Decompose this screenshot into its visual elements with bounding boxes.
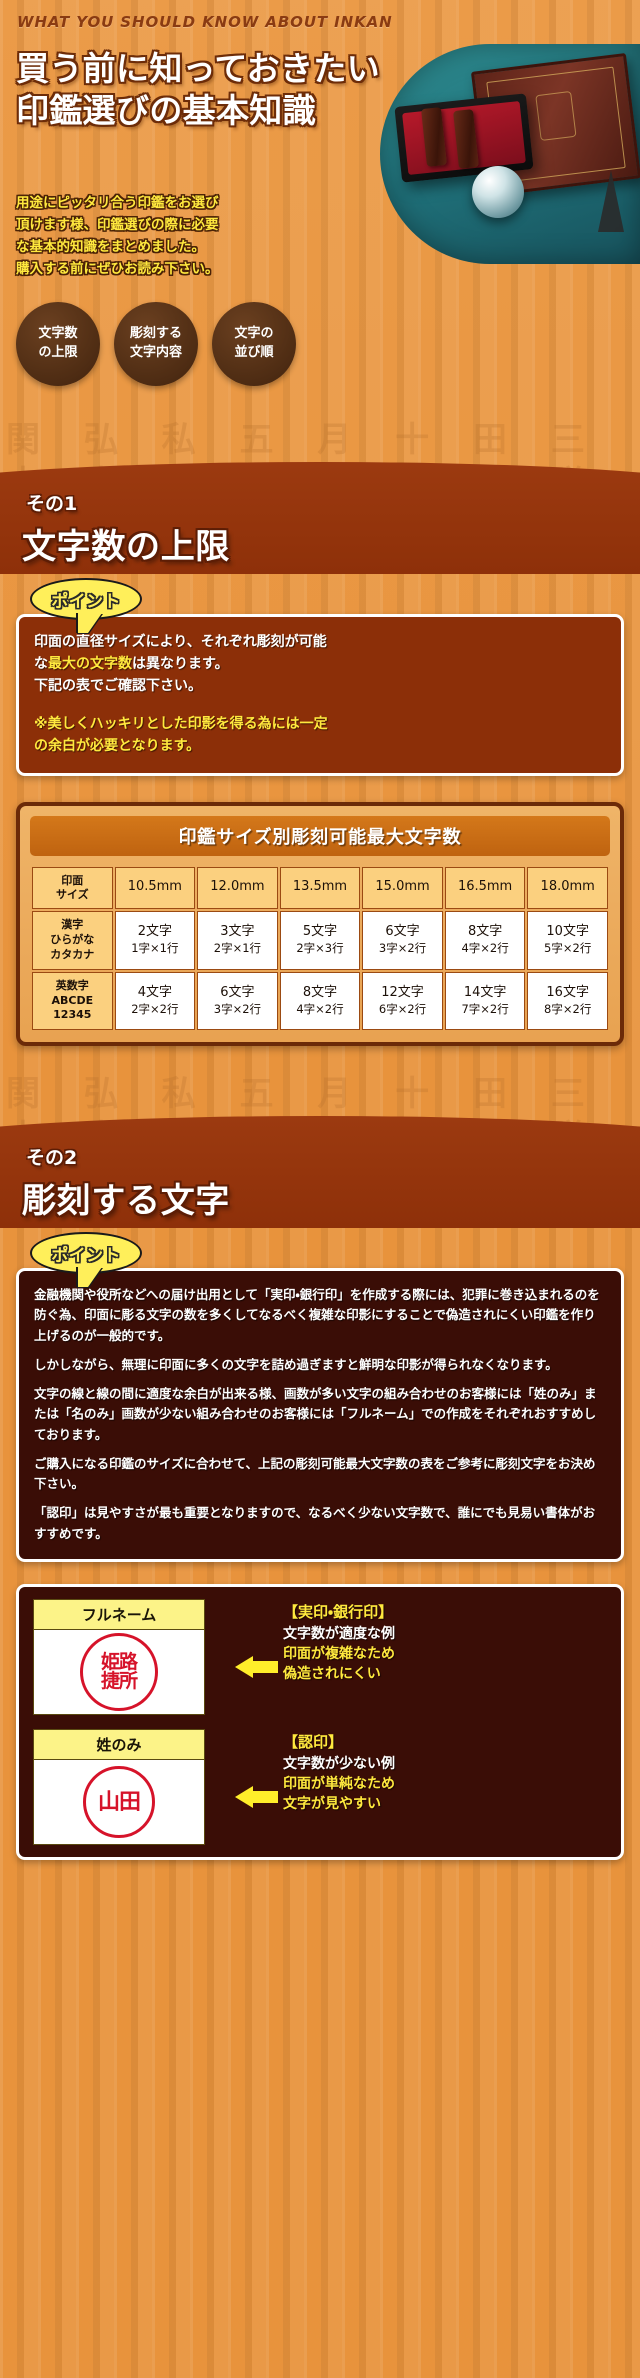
compare-line-1-2: 文字が見やすい [283,1795,607,1815]
section2-paragraph-3: ご購入になる印鑑のサイズに合わせて、上記の彫刻可能最大文字数の表をご参考に彫刻文… [34,1454,606,1495]
size-cell-r0c3: 6文字 3字×2行 [362,911,443,970]
size-cell-r1c0-big: 4文字 [117,985,194,1002]
size-table-corner-line2: サイズ [34,888,111,902]
point-bubble-1-label: ポイント [51,587,120,612]
size-cell-r1c1-sub: 3字×2行 [199,1002,276,1017]
photo-glass-ball [472,166,524,218]
seal-comparison-panel: フルネーム 姫路 捷所 【実印・銀行印】 文字数が適度な例 印面が複雑なため 偽… [16,1584,624,1860]
size-cell-r0c0-big: 2文字 [117,924,194,941]
hero-banner: WHAT YOU SHOULD KNOW ABOUT INKAN 買う前に知って… [0,0,640,414]
spacer-2 [0,1860,640,1882]
tab-character-order-line2: 並び順 [234,344,273,363]
compare-line-1-1: 印面が単純なため [283,1775,607,1795]
size-row0-label-line3: カタカナ [34,948,111,963]
arrow-left-icon-wrap [215,1625,273,1709]
compare-heading-mitomein: 【認印】 [283,1731,607,1752]
compare-text-surname: 【認印】 文字数が少ない例 印面が単純なため 文字が見やすい [283,1729,607,1815]
compare-lines-mitomein: 文字数が少ない例 印面が単純なため 文字が見やすい [283,1755,607,1815]
tab-character-limit-line1: 文字数 [38,325,77,344]
section1-note: ※美しくハッキリとした印影を得る為には一定 の余白が必要となります。 [34,713,606,757]
point-bubble-2: ポイント [30,1232,142,1274]
compare-heading-jitsuin: 【実印・銀行印】 [283,1601,607,1622]
size-cell-r0c0: 2文字 1字×1行 [115,911,196,970]
section1-note-line1: ※美しくハッキリとした印影を得る為には一定 [34,713,606,735]
section1-point-line2-pre: な [34,656,48,672]
compare-line-0-0: 文字数が適度な例 [283,1625,607,1645]
size-table-card: 印鑑サイズ別彫刻可能最大文字数 印面 サイズ 10.5mm 12.0mm 13.… [16,802,624,1047]
hero-photo [380,44,640,264]
size-cell-r0c1: 3文字 2字×1行 [197,911,278,970]
section1-note-line2: の余白が必要となります。 [34,735,606,757]
size-cell-r1c1: 6文字 3字×2行 [197,972,278,1031]
point-bubble-1: ポイント [30,578,142,620]
arrow-left-icon [235,1656,253,1678]
size-cell-r0c4-big: 8文字 [447,924,524,941]
size-cell-r0c5-sub: 5字×2行 [529,941,606,956]
hero-lead-line2: 頂けます様、印鑑選びの際に必要 [16,215,219,237]
page-root: WHAT YOU SHOULD KNOW ABOUT INKAN 買う前に知って… [0,0,640,2378]
compare-card-surname: 姓のみ 山田 [33,1729,205,1845]
size-cell-r1c5-sub: 8字×2行 [529,1002,606,1017]
size-cell-r0c5-big: 10文字 [529,924,606,941]
point-bubble-2-label: ポイント [51,1241,120,1266]
size-table: 印面 サイズ 10.5mm 12.0mm 13.5mm 15.0mm 16.5m… [30,865,610,1033]
hero-lead-line3: な基本的知識をまとめました。 [16,237,219,259]
size-row0-label: 漢字 ひらがな カタカナ [32,911,113,970]
size-cell-r0c2: 5文字 2字×3行 [280,911,361,970]
compare-seal-fullname: 姫路 捷所 [33,1630,205,1715]
section1-point-line2: な最大の文字数は異なります。 [34,653,606,675]
compare-card-fullname: フルネーム 姫路 捷所 [33,1599,205,1715]
section1-header: 関 弘 私 五 月 十 田 三 大 文 友 良 所 芳 ス 議 一 東 家 象 … [0,414,640,574]
compare-line-0-1: 印面が複雑なため [283,1645,607,1665]
size-cell-r1c0-sub: 2字×2行 [117,1002,194,1017]
size-cell-r1c4-sub: 7字×2行 [447,1002,524,1017]
arrow-left-icon-wrap [215,1755,273,1839]
compare-line-0-2: 偽造されにくい [283,1665,607,1685]
size-cell-r0c2-sub: 2字×3行 [282,941,359,956]
size-cell-r1c4: 14文字 7字×2行 [445,972,526,1031]
section2-paragraph-1: しかしながら、無理に印面に多くの文字を詰め過ぎますと鮮明な印影が得られなくなりま… [34,1355,606,1375]
size-row1-label: 英数字 ABCDE 12345 [32,972,113,1031]
seal-impression-icon: 姫路 捷所 [80,1633,158,1711]
section2-number: その2 [26,1143,77,1170]
tab-engraved-content[interactable]: 彫刻する 文字内容 [114,302,198,386]
section2-point-panel: 金融機関や役所などへの届け出用として「実印・銀行印」を作成する際には、犯罪に巻き… [16,1268,624,1562]
page-title: 買う前に知っておきたい 印鑑選びの基本知識 [16,48,380,132]
size-cell-r1c4-big: 14文字 [447,985,524,1002]
section2-body: 金融機関や役所などへの届け出用として「実印・銀行印」を作成する際には、犯罪に巻き… [34,1285,606,1544]
photo-tower [598,170,624,232]
compare-label-surname: 姓のみ [33,1729,205,1760]
section1-point-line2-post: は異なります。 [132,656,229,672]
size-cell-r0c1-sub: 2字×1行 [199,941,276,956]
tab-nav: 文字数 の上限 彫刻する 文字内容 文字の 並び順 [0,286,312,408]
section1-point-panel: 印面の直径サイズにより、それぞれ彫刻が可能 な最大の文字数は異なります。 下記の… [16,614,624,776]
section1-point-line3: 下記の表でご確認下さい。 [34,675,606,697]
hero-lead: 用途にピッタリ合う印鑑をお選び 頂けます様、印鑑選びの際に必要 な基本的知識をま… [16,193,219,280]
tab-character-limit-line2: の上限 [38,344,77,363]
size-table-title: 印鑑サイズ別彫刻可能最大文字数 [179,827,462,848]
size-table-corner-header: 印面 サイズ [32,867,113,910]
size-row0-label-line2: ひらがな [34,933,111,948]
size-cell-r1c2-sub: 4字×2行 [282,1002,359,1017]
size-row1-label-line2: ABCDE [34,994,111,1009]
arrow-left-icon [235,1786,253,1808]
list-item: フルネーム 姫路 捷所 【実印・銀行印】 文字数が適度な例 印面が複雑なため 偽… [33,1599,607,1715]
seal-impression-icon: 山田 [83,1766,155,1838]
size-row1-label-line1: 英数字 [34,979,111,994]
list-item: 姓のみ 山田 【認印】 文字数が少ない例 印面が単純なため 文字が見やすい [33,1729,607,1845]
tab-engraved-content-line1: 彫刻する [130,325,182,344]
page-title-line2: 印鑑選びの基本知識 [16,90,380,132]
size-table-title-bar: 印鑑サイズ別彫刻可能最大文字数 [30,816,610,856]
section1-number: その1 [26,489,77,516]
size-row1-label-line3: 12345 [34,1008,111,1023]
size-cell-r1c2-big: 8文字 [282,985,359,1002]
size-cell-r1c0: 4文字 2字×2行 [115,972,196,1031]
compare-label-fullname: フルネーム [33,1599,205,1630]
section2-paragraph-0: 金融機関や役所などへの届け出用として「実印・銀行印」を作成する際には、犯罪に巻き… [34,1285,606,1346]
size-cell-r1c3: 12文字 6字×2行 [362,972,443,1031]
size-cell-r1c5: 16文字 8字×2行 [527,972,608,1031]
section1-point-body: 印面の直径サイズにより、それぞれ彫刻が可能 な最大の文字数は異なります。 下記の… [34,631,606,697]
size-col-1: 12.0mm [197,867,278,910]
size-cell-r0c4-sub: 4字×2行 [447,941,524,956]
tab-engraved-content-line2: 文字内容 [130,344,182,363]
size-table-header-row: 印面 サイズ 10.5mm 12.0mm 13.5mm 15.0mm 16.5m… [32,867,608,910]
size-cell-r0c5: 10文字 5字×2行 [527,911,608,970]
section2-header: 関 弘 私 五 月 十 田 三 大 文 友 良 所 芳 ス 議 一 東 家 象 … [0,1068,640,1228]
tab-character-limit[interactable]: 文字数 の上限 [16,302,100,386]
table-row: 漢字 ひらがな カタカナ 2文字 1字×1行 3文字 2字×1行 5文字 2 [32,911,608,970]
table-row: 英数字 ABCDE 12345 4文字 2字×2行 6文字 3字×2行 8文字 [32,972,608,1031]
size-cell-r0c2-big: 5文字 [282,924,359,941]
section1-title: 文字数の上限 [22,519,230,568]
compare-line-1-0: 文字数が少ない例 [283,1755,607,1775]
section1-point-highlight: 最大の文字数 [48,656,132,672]
spacer-1 [0,1046,640,1068]
section2-paragraph-2: 文字の線と線の間に適度な余白が出来る様、画数が多い文字の組み合わせのお客様には「… [34,1384,606,1445]
size-cell-r0c1-big: 3文字 [199,924,276,941]
hero-lead-line1: 用途にピッタリ合う印鑑をお選び [16,193,219,215]
size-row0-label-line1: 漢字 [34,918,111,933]
size-cell-r1c5-big: 16文字 [529,985,606,1002]
section2-paragraph-4: 「認印」は見やすさが最も重要となりますので、なるべく少ない文字数で、誰にでも見易… [34,1503,606,1544]
size-col-0: 10.5mm [115,867,196,910]
size-col-5: 18.0mm [527,867,608,910]
section1-point-line1: 印面の直径サイズにより、それぞれ彫刻が可能 [34,631,606,653]
hero-lead-line4: 購入する前にぜひお読み下さい。 [16,259,219,281]
size-col-4: 16.5mm [445,867,526,910]
compare-lines-jitsuin: 文字数が適度な例 印面が複雑なため 偽造されにくい [283,1625,607,1685]
size-cell-r0c0-sub: 1字×1行 [117,941,194,956]
size-col-2: 13.5mm [280,867,361,910]
size-cell-r0c4: 8文字 4字×2行 [445,911,526,970]
section2-title: 彫刻する文字 [22,1173,230,1222]
tab-character-order[interactable]: 文字の 並び順 [212,302,296,386]
size-col-3: 15.0mm [362,867,443,910]
size-cell-r0c3-sub: 3字×2行 [364,941,441,956]
compare-seal-surname: 山田 [33,1760,205,1845]
size-cell-r1c2: 8文字 4字×2行 [280,972,361,1031]
tab-character-order-line1: 文字の [234,325,273,344]
size-cell-r1c1-big: 6文字 [199,985,276,1002]
size-cell-r1c3-sub: 6字×2行 [364,1002,441,1017]
size-cell-r1c3-big: 12文字 [364,985,441,1002]
size-cell-r0c3-big: 6文字 [364,924,441,941]
page-title-line1: 買う前に知っておきたい [16,48,380,90]
compare-text-fullname: 【実印・銀行印】 文字数が適度な例 印面が複雑なため 偽造されにくい [283,1599,607,1685]
hero-kicker: WHAT YOU SHOULD KNOW ABOUT INKAN [17,13,393,31]
size-table-corner-line1: 印面 [34,874,111,888]
